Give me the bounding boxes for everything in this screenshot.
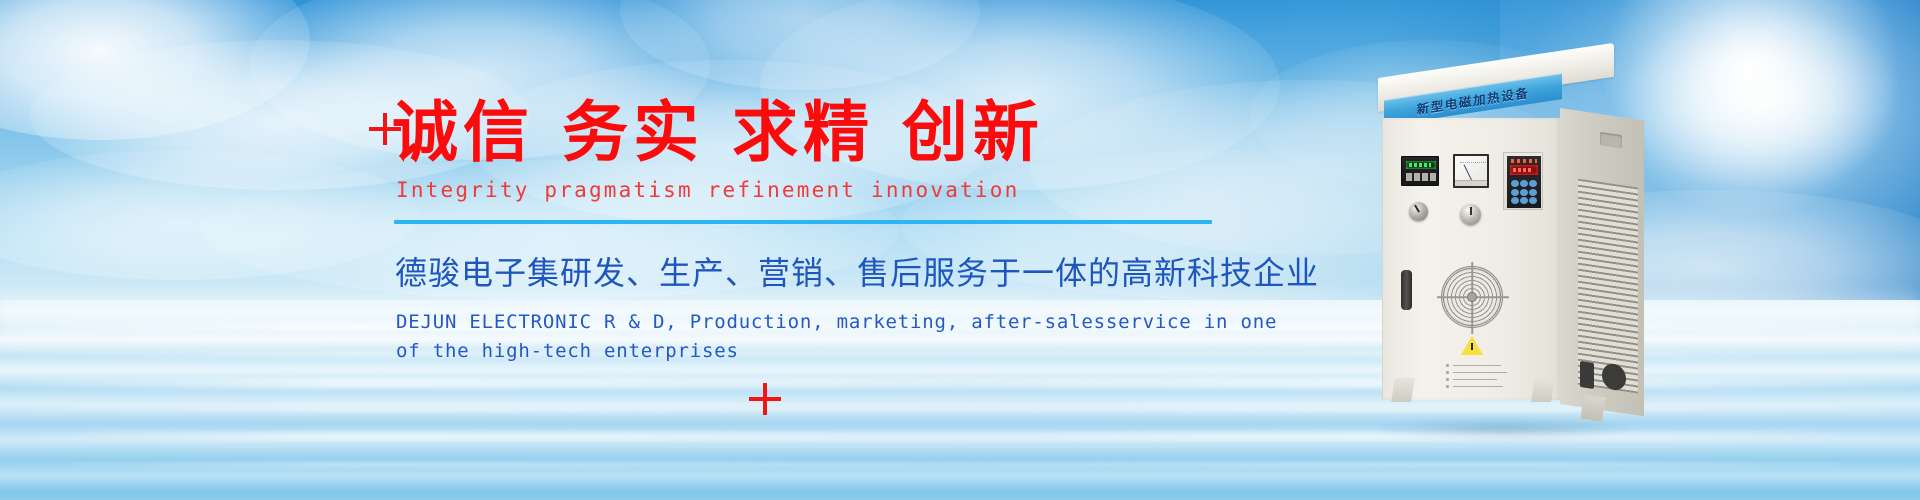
controller-button-row (1406, 173, 1436, 181)
keypad-inner-face (1507, 156, 1541, 208)
banner-description-en-line1: DEJUN ELECTRONIC R & D, Production, mark… (396, 308, 1272, 337)
label-text-line (1453, 365, 1501, 366)
section-divider (394, 220, 1212, 224)
keypad-key (1529, 197, 1537, 204)
door-handle-icon (1401, 270, 1412, 310)
banner-headline-en: Integrity pragmatism refinement innovati… (396, 178, 1272, 202)
keypad-key (1529, 189, 1537, 196)
selector-knob-icon (1409, 202, 1428, 221)
water-reflection-streak (0, 432, 1920, 440)
specification-label (1445, 362, 1511, 396)
promotional-banner: 诚信 务实 求精 创新 Integrity pragmatism refinem… (0, 0, 1920, 500)
high-voltage-warning-triangle-icon (1461, 336, 1483, 355)
side-handle-icon (1600, 132, 1622, 148)
digital-temperature-controller (1401, 156, 1439, 186)
red-led-display-icon (1510, 165, 1538, 175)
banner-text-block: 诚信 务实 求精 创新 Integrity pragmatism refinem… (392, 100, 1272, 367)
label-text-line (1453, 372, 1507, 373)
plus-mark-icon (749, 383, 781, 415)
analog-panel-meter (1453, 154, 1489, 188)
side-port-icon (1580, 361, 1594, 389)
keypad-key (1520, 197, 1528, 204)
banner-description-en-line2: of the high-tech enterprises (396, 337, 1272, 366)
keypad-key (1520, 189, 1528, 196)
keypad-control-panel (1503, 152, 1543, 210)
label-text-line (1453, 379, 1497, 380)
digital-display-icon (1406, 161, 1436, 169)
banner-description-en: DEJUN ELECTRONIC R & D, Production, mark… (396, 308, 1272, 367)
cabinet-foot (1531, 378, 1555, 402)
cabinet-foot-side (1580, 394, 1605, 421)
keypad-key (1511, 189, 1519, 196)
meter-footer (1455, 180, 1487, 186)
keypad-key (1511, 197, 1519, 204)
label-bullet (1446, 364, 1449, 367)
product-image-heating-equipment: 新型电磁加热设备 (1378, 78, 1648, 430)
fan-hub-icon (1467, 292, 1477, 302)
water-reflection-streak (0, 462, 1920, 467)
keypad-key (1511, 180, 1519, 187)
adjustment-knob-icon (1460, 204, 1481, 225)
label-bullet (1446, 385, 1449, 388)
label-bullet (1446, 378, 1449, 381)
banner-headline-cn: 诚信 务实 求精 创新 (392, 100, 1272, 166)
cabinet-foot (1391, 378, 1415, 402)
label-bullet (1446, 371, 1449, 374)
banner-description-cn: 德骏电子集研发、生产、营销、售后服务于一体的高新科技企业 (395, 248, 1272, 294)
label-text-line (1453, 386, 1503, 387)
keypad-key (1520, 180, 1528, 187)
keypad-buttons (1511, 180, 1537, 204)
status-led-row-icon (1511, 159, 1537, 163)
cabinet-side-panel (1560, 108, 1644, 416)
cabinet-front-panel (1382, 118, 1560, 400)
keypad-key (1529, 180, 1537, 187)
